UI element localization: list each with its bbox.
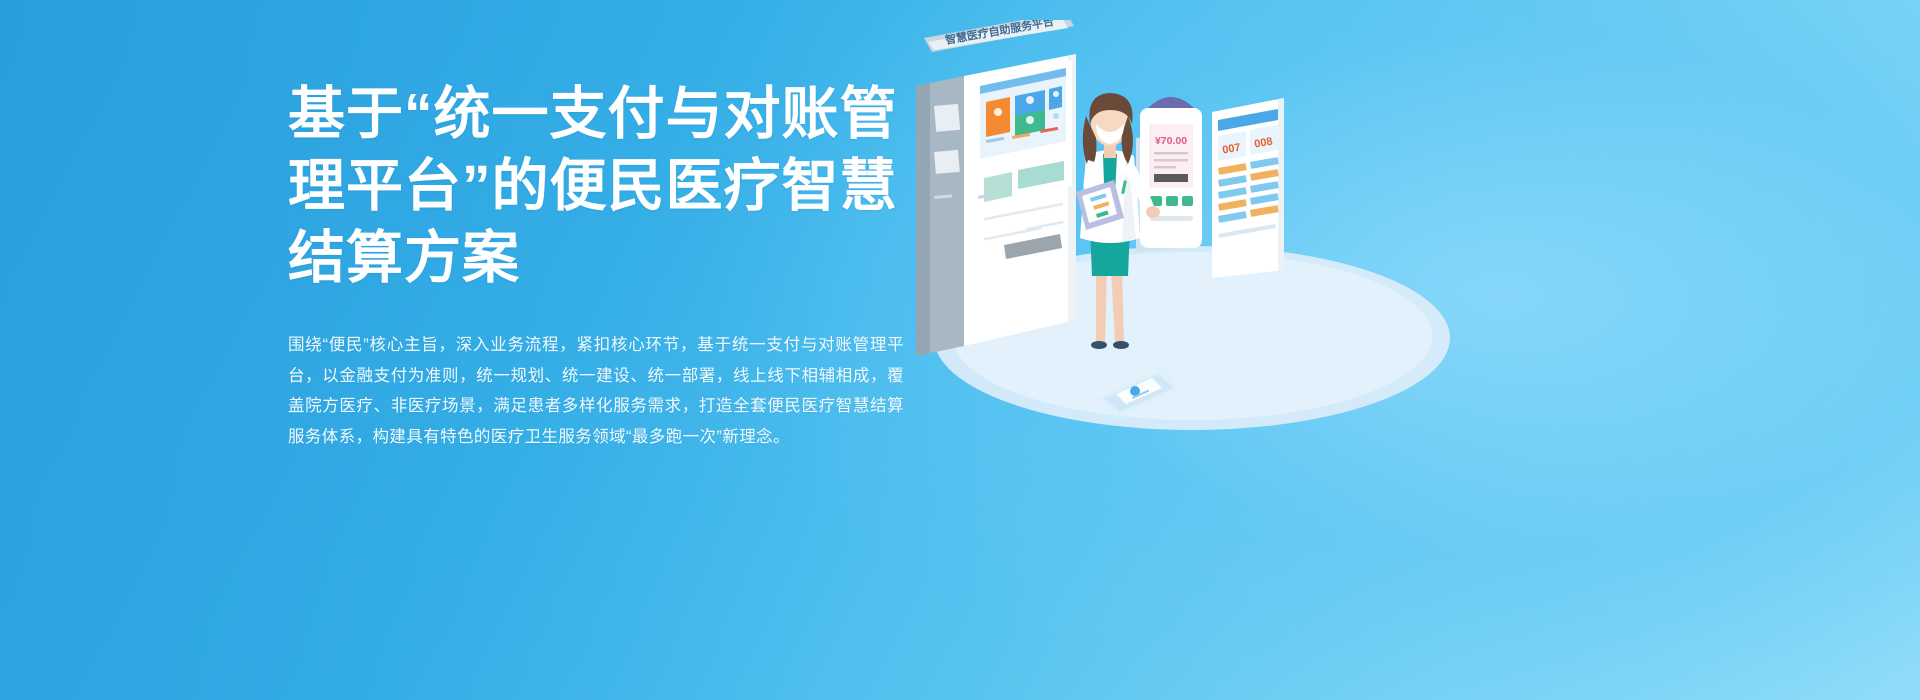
receipt-cap (1148, 97, 1194, 108)
tile-icon-1 (994, 108, 1002, 116)
kiosk-header-label: 智慧医疗自助服务平台 (944, 20, 1055, 47)
kiosk-side-shade (916, 83, 930, 356)
doctor-hand-right (1146, 206, 1160, 218)
receipt-line-3 (1154, 166, 1176, 168)
page-title: 基于“统一支付与对账管理平台”的便民医疗智慧结算方案 (288, 78, 908, 294)
doctor-shoe-left (1091, 341, 1107, 349)
receipt-amount: ¥70.00 (1155, 135, 1187, 147)
kiosk-tile-1 (986, 97, 1010, 137)
hero-banner: 基于“统一支付与对账管理平台”的便民医疗智慧结算方案 围绕“便民”核心主旨，深入… (0, 0, 1920, 700)
hero-copy-block: 基于“统一支付与对账管理平台”的便民医疗智慧结算方案 围绕“便民”核心主旨，深入… (288, 78, 908, 452)
self-service-kiosk: 智慧医疗自助服务平台 (916, 20, 1076, 356)
receipt-line-1 (1154, 152, 1188, 154)
kiosk-header-sign: 智慧医疗自助服务平台 (924, 20, 1074, 52)
kiosk-side-panel-2 (934, 150, 960, 174)
queue-display-board: 007 008 (1212, 98, 1284, 278)
tile-icon-2 (1026, 96, 1034, 104)
tile-icon-4 (1026, 116, 1034, 124)
kiosk-side-panel-1 (934, 104, 960, 132)
kiosk-tile-3 (1049, 86, 1062, 111)
doctor-shoe-right (1113, 341, 1129, 349)
hero-illustration: 智慧医疗自助服务平台 (900, 20, 1460, 460)
queue-board-edge (1278, 98, 1284, 271)
tile-icon-5 (1053, 113, 1059, 119)
payment-receipt-panel: ¥70.00 (1136, 97, 1202, 252)
hero-description: 围绕“便民”核心主旨，深入业务流程，紧扣核心环节，基于统一支付与对账管理平台，以… (288, 294, 904, 452)
receipt-barcode (1154, 174, 1188, 182)
receipt-btn-3 (1182, 196, 1193, 206)
receipt-line-2 (1154, 159, 1188, 161)
receipt-btn-2 (1166, 196, 1178, 206)
tile-icon-3 (1053, 91, 1059, 97)
